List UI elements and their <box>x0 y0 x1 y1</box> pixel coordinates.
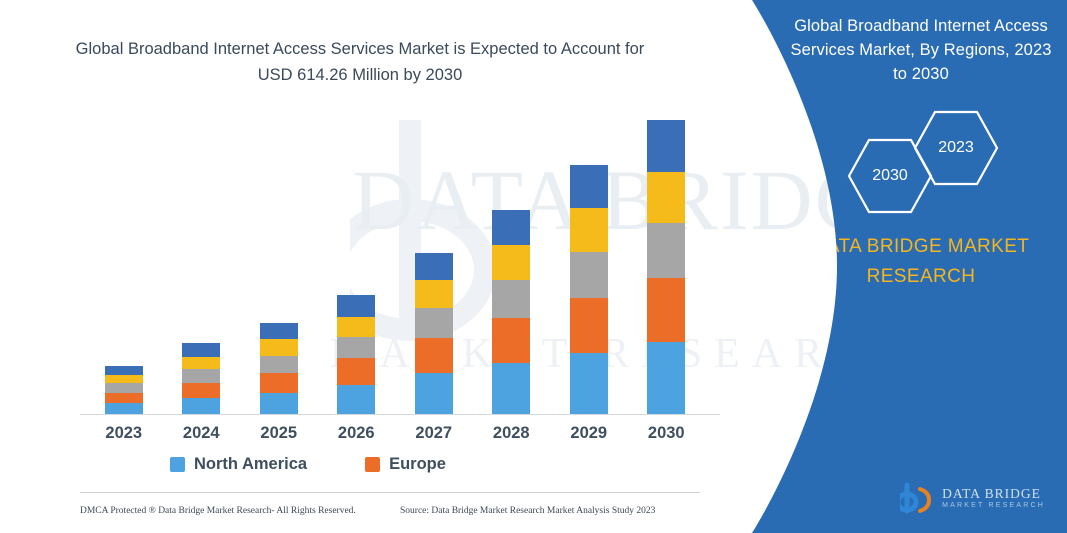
chart-title: Global Broadband Internet Access Service… <box>60 36 660 88</box>
panel-brand-line1: DATA BRIDGE MARKET <box>787 232 1055 262</box>
bar-group <box>337 295 375 415</box>
bar-segment <box>570 165 608 208</box>
x-axis-tick-label: 2029 <box>551 424 627 443</box>
bar-segment <box>182 383 220 398</box>
bar-segment <box>337 358 375 385</box>
bar-segment <box>647 172 685 224</box>
bar-segment <box>647 223 685 278</box>
bar-segment <box>415 253 453 280</box>
bar-group <box>570 165 608 415</box>
brand-logo-sub: MARKET RESEARCH <box>942 502 1045 510</box>
bar-segment <box>105 375 143 383</box>
legend-swatch <box>170 457 185 472</box>
stacked-bar-chart <box>85 110 705 415</box>
x-axis-tick-label: 2023 <box>86 424 162 443</box>
chart-legend: North AmericaEurope <box>170 455 446 474</box>
x-axis-labels: 20232024202520262027202820292030 <box>85 424 705 450</box>
bar-segment <box>182 369 220 382</box>
bar-segment <box>415 338 453 373</box>
brand-logo: DATA BRIDGE MARKET RESEARCH <box>900 481 1045 515</box>
hexagon-badge-2023: 2023 <box>913 110 999 186</box>
bar-segment <box>647 278 685 341</box>
right-blue-panel: Global Broadband Internet Access Service… <box>707 0 1067 533</box>
bar-segment <box>492 318 530 363</box>
hexagon-badge-2023-label: 2023 <box>938 139 974 157</box>
legend-label: North America <box>194 455 307 474</box>
bar-segment <box>492 245 530 280</box>
bar-group <box>415 253 453 415</box>
x-axis-tick-label: 2030 <box>628 424 704 443</box>
infographic-root: DATA BRIDGE MARKET RESEARCH Global Broad… <box>0 0 1067 533</box>
brand-logo-main: DATA BRIDGE <box>942 487 1045 502</box>
bar-segment <box>647 120 685 172</box>
bar-segment <box>492 363 530 415</box>
x-axis-tick-label: 2024 <box>163 424 239 443</box>
x-axis-tick-label: 2028 <box>473 424 549 443</box>
bar-group <box>647 120 685 415</box>
bar-segment <box>570 353 608 415</box>
bar-segment <box>260 356 298 374</box>
footer-divider <box>80 492 700 493</box>
panel-brand-line2: RESEARCH <box>787 262 1055 292</box>
bar-segment <box>415 308 453 338</box>
bar-segment <box>337 385 375 415</box>
bar-group <box>182 343 220 415</box>
bar-group <box>260 323 298 415</box>
bar-segment <box>105 366 143 375</box>
x-axis-tick-label: 2027 <box>396 424 472 443</box>
bar-group <box>105 366 143 415</box>
footer-copyright: DMCA Protected ® Data Bridge Market Rese… <box>80 506 356 516</box>
bridge-logo-icon <box>900 481 934 515</box>
bar-segment <box>492 280 530 318</box>
panel-brand: DATA BRIDGE MARKET RESEARCH <box>787 232 1055 292</box>
bar-segment <box>182 357 220 370</box>
panel-title: Global Broadband Internet Access Service… <box>787 14 1055 86</box>
bar-segment <box>105 393 143 404</box>
footer-source: Source: Data Bridge Market Research Mark… <box>400 506 655 516</box>
hexagon-badges: 2030 2023 <box>847 110 1047 220</box>
bar-segment <box>337 317 375 337</box>
x-axis-line <box>80 414 720 415</box>
bar-group <box>492 210 530 415</box>
x-axis-tick-label: 2026 <box>318 424 394 443</box>
bar-segment <box>337 337 375 359</box>
legend-item[interactable]: North America <box>170 455 307 474</box>
hexagon-badge-2030-label: 2030 <box>872 167 908 185</box>
bar-segment <box>260 323 298 340</box>
legend-label: Europe <box>389 455 446 474</box>
bar-segment <box>182 398 220 416</box>
bar-segment <box>182 343 220 356</box>
bar-segment <box>492 210 530 245</box>
bar-segment <box>570 208 608 251</box>
bar-segment <box>415 280 453 308</box>
bar-segment <box>260 339 298 356</box>
legend-swatch <box>365 457 380 472</box>
bar-segment <box>415 373 453 415</box>
x-axis-tick-label: 2025 <box>241 424 317 443</box>
legend-item[interactable]: Europe <box>365 455 446 474</box>
bar-segment <box>337 295 375 317</box>
bar-segment <box>260 393 298 415</box>
bar-segment <box>647 342 685 415</box>
bar-segment <box>570 298 608 353</box>
bar-segment <box>570 252 608 299</box>
bar-segment <box>260 373 298 393</box>
bar-segment <box>105 383 143 392</box>
